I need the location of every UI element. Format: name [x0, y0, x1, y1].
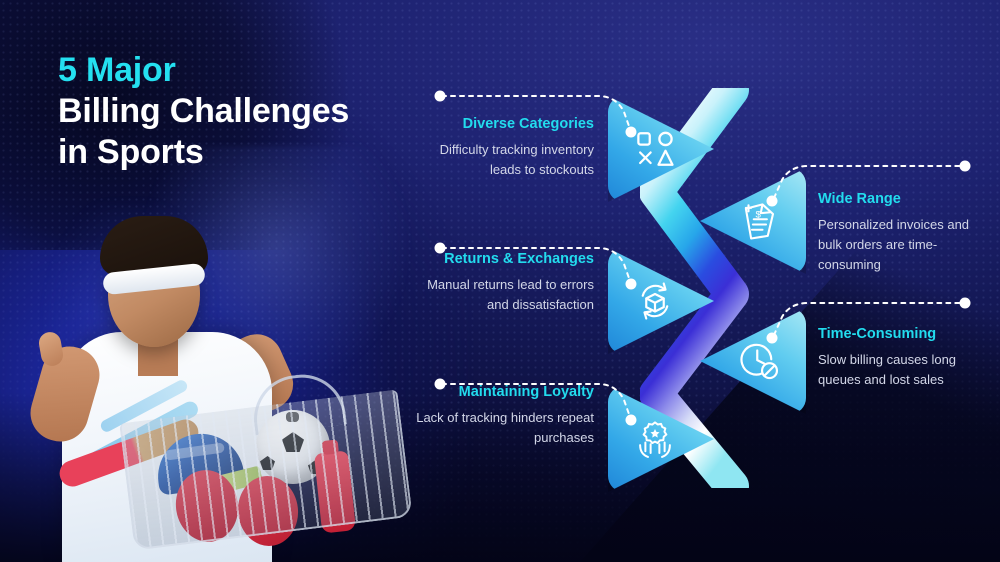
text-block-maintaining-loyalty: Maintaining Loyalty Lack of tracking hin… [410, 384, 594, 448]
category-shapes-icon [634, 128, 676, 170]
heading-maintaining-loyalty: Maintaining Loyalty [410, 384, 594, 401]
clock-blocked-icon [738, 340, 780, 382]
page-title: 5 Major Billing Challenges in Sports [58, 50, 418, 174]
body-wide-range: Personalized invoices and bulk orders ar… [818, 215, 988, 274]
heading-diverse-categories: Diverse Categories [410, 116, 594, 133]
text-block-wide-range: Wide Range Personalized invoices and bul… [818, 191, 988, 275]
text-block-diverse-categories: Diverse Categories Difficulty tracking i… [410, 116, 594, 180]
body-diverse-categories: Difficulty tracking inventory leads to s… [410, 140, 594, 180]
infographic-canvas: 5 Major Billing Challenges in Sports [0, 0, 1000, 562]
svg-text:$: $ [756, 210, 762, 221]
title-line-2: Billing Challenges [58, 91, 418, 132]
body-maintaining-loyalty: Lack of tracking hinders repeat purchase… [410, 408, 594, 448]
title-line-3: in Sports [58, 132, 418, 173]
title-line-1: 5 Major [58, 50, 418, 91]
box-return-arrows-icon [634, 280, 676, 322]
text-block-returns-exchanges: Returns & Exchanges Manual returns lead … [410, 251, 594, 315]
text-block-time-consuming: Time-Consuming Slow billing causes long … [818, 326, 988, 390]
hands-badge-icon [634, 418, 676, 460]
body-returns-exchanges: Manual returns lead to errors and dissat… [410, 275, 594, 315]
heading-time-consuming: Time-Consuming [818, 326, 988, 343]
heading-wide-range: Wide Range [818, 191, 988, 208]
heading-returns-exchanges: Returns & Exchanges [410, 251, 594, 268]
hero-photo [0, 132, 430, 562]
invoice-document-icon: $ [738, 200, 780, 242]
body-time-consuming: Slow billing causes long queues and lost… [818, 350, 988, 390]
